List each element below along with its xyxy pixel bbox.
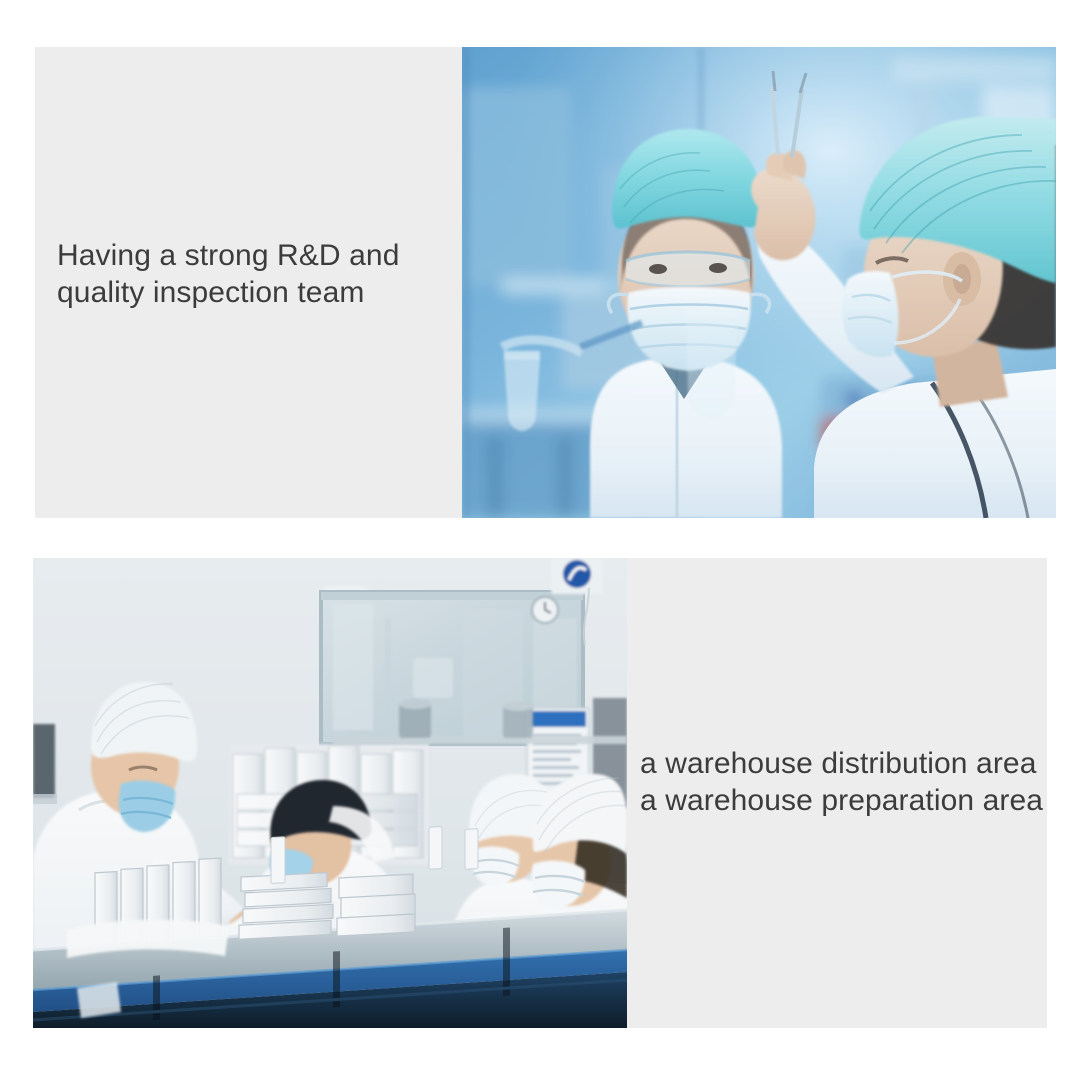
warehouse-packing-photo [33, 558, 627, 1028]
warehouse-caption: a warehouse distribution area a warehous… [640, 745, 1050, 819]
rnd-quality-caption: Having a strong R&D and quality inspecti… [57, 237, 457, 311]
lab-technicians-photo [462, 47, 1056, 518]
rnd-quality-section: Having a strong R&D and quality inspecti… [35, 47, 1056, 518]
warehouse-section: a warehouse distribution area a warehous… [33, 558, 1047, 1028]
rnd-quality-caption-panel: Having a strong R&D and quality inspecti… [35, 47, 462, 518]
lab-technicians-illustration [462, 47, 1056, 518]
warehouse-caption-panel: a warehouse distribution area a warehous… [627, 558, 1047, 1028]
warehouse-packing-illustration [33, 558, 627, 1028]
